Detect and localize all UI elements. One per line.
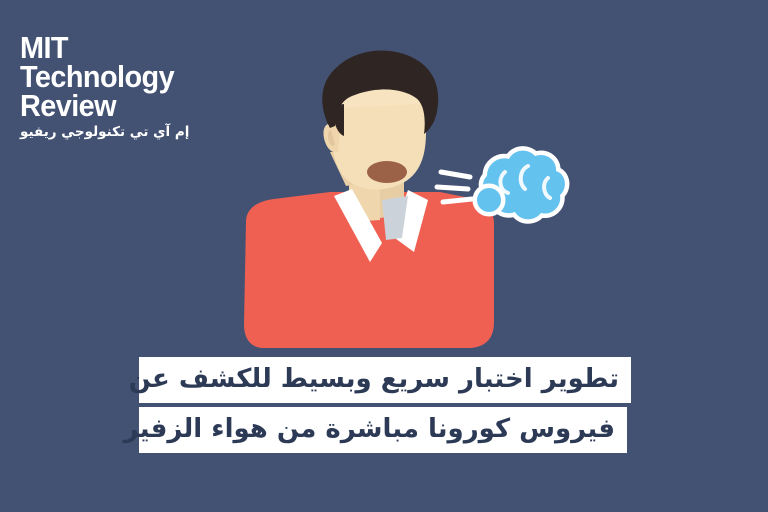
headline-banner: تطوير اختبار سريع وبسيط للكشف عن فيروس ك… <box>139 357 631 453</box>
mouth <box>367 161 407 183</box>
headline-line-1: تطوير اختبار سريع وبسيط للكشف عن <box>139 357 631 403</box>
motion-lines <box>437 172 472 202</box>
poster-canvas: MIT Technology Review إم آي تي تكنولوجي … <box>0 0 768 512</box>
mit-technology-review-logo: MIT Technology Review إم آي تي تكنولوجي … <box>20 34 230 140</box>
jaw-shadow <box>330 150 404 186</box>
logo-arabic-subtitle: إم آي تي تكنولوجي ريفيو <box>20 125 230 140</box>
shirt-collar-right <box>392 190 428 252</box>
neck-highlight <box>349 150 380 222</box>
collar-shadow <box>382 196 408 240</box>
neck <box>349 150 404 222</box>
face-profile <box>332 58 426 190</box>
ear <box>323 124 340 153</box>
logo-line-review: Review <box>20 92 215 121</box>
breath-cloud <box>475 151 565 220</box>
headline-line-2: فيروس كورونا مباشرة من هواء الزفير <box>139 407 627 453</box>
ear-inner <box>328 130 335 146</box>
hair <box>322 50 438 134</box>
forehead-highlight <box>336 64 422 108</box>
shirt-collar-left <box>334 189 382 262</box>
hair-sideburn <box>332 104 344 136</box>
red-sweater-torso <box>244 192 494 348</box>
